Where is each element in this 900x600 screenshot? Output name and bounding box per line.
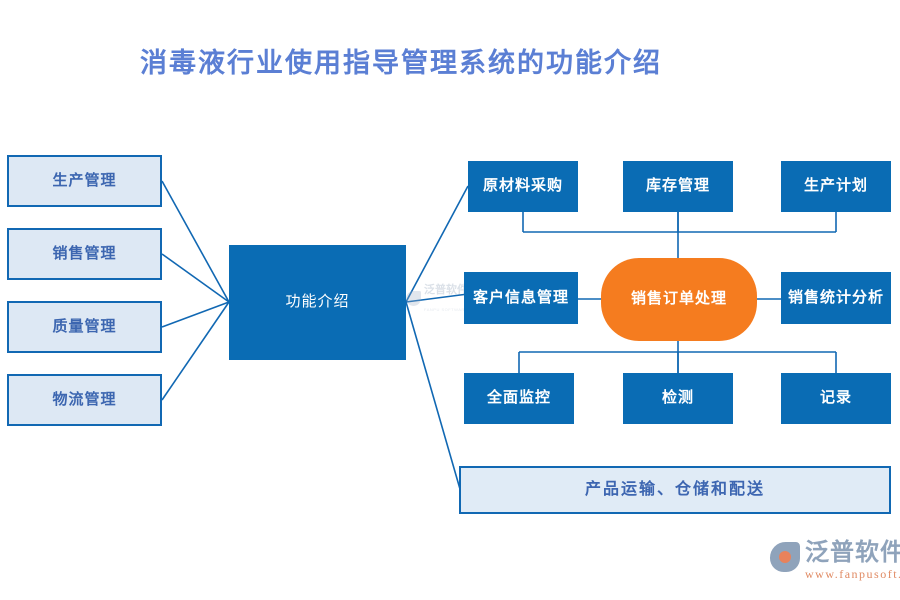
node-raw-material-purchasing[interactable]: 原材料采购 xyxy=(468,161,578,212)
node-label: 销售管理 xyxy=(52,245,116,264)
node-label: 产品运输、仓储和配送 xyxy=(585,480,765,500)
node-left-3[interactable]: 质量管理 xyxy=(7,301,162,353)
node-label: 物流管理 xyxy=(52,391,116,410)
node-label: 记录 xyxy=(820,389,852,408)
node-left-2[interactable]: 销售管理 xyxy=(7,228,162,280)
node-label: 原材料采购 xyxy=(483,177,563,196)
node-label: 功能介绍 xyxy=(285,293,349,312)
node-label: 全面监控 xyxy=(487,389,551,408)
node-label: 生产计划 xyxy=(804,177,868,196)
node-comprehensive-monitoring[interactable]: 全面监控 xyxy=(464,373,574,424)
node-record[interactable]: 记录 xyxy=(781,373,891,424)
node-label: 库存管理 xyxy=(646,177,710,196)
node-left-4[interactable]: 物流管理 xyxy=(7,374,162,426)
connector-left-3 xyxy=(162,302,229,327)
node-inspection[interactable]: 检测 xyxy=(623,373,733,424)
node-inventory-management[interactable]: 库存管理 xyxy=(623,161,733,212)
node-label: 销售订单处理 xyxy=(631,290,727,309)
node-customer-info-management[interactable]: 客户信息管理 xyxy=(464,272,578,324)
node-center[interactable]: 功能介绍 xyxy=(229,245,406,360)
node-label: 检测 xyxy=(662,389,694,408)
node-label: 生产管理 xyxy=(52,172,116,191)
node-production-plan[interactable]: 生产计划 xyxy=(781,161,891,212)
diagram-canvas: 消毒液行业使用指导管理系统的功能介绍 生产管理 销售管理 质量管理 物流管理 功… xyxy=(0,0,900,600)
node-label: 客户信息管理 xyxy=(473,289,569,308)
watermark-brand: 泛普软件 xyxy=(424,284,468,296)
brand-logo: 泛普软件 www.fanpusoft.com xyxy=(770,540,900,583)
node-logistics-bar[interactable]: 产品运输、仓储和配送 xyxy=(459,466,891,514)
connector-right-bottom xyxy=(406,302,462,496)
brand-logo-icon xyxy=(770,542,800,572)
watermark-sub: FANPU SOFTWARE xyxy=(424,307,468,312)
node-sales-statistics-analysis[interactable]: 销售统计分析 xyxy=(781,272,891,324)
brand-url: www.fanpusoft.com xyxy=(805,567,900,581)
watermark-logo-icon xyxy=(406,291,421,306)
center-watermark: 泛普软件 FANPU SOFTWARE xyxy=(406,280,468,316)
connector-left-1 xyxy=(162,181,229,302)
brand-name: 泛普软件 xyxy=(805,539,900,566)
node-sales-order-processing[interactable]: 销售订单处理 xyxy=(601,258,757,341)
node-left-1[interactable]: 生产管理 xyxy=(7,155,162,207)
page-title: 消毒液行业使用指导管理系统的功能介绍 xyxy=(140,41,780,80)
connector-left-4 xyxy=(162,302,229,400)
node-label: 质量管理 xyxy=(52,318,116,337)
node-label: 销售统计分析 xyxy=(788,289,884,308)
brand-dot-shape xyxy=(779,551,791,563)
connector-left-2 xyxy=(162,254,229,302)
